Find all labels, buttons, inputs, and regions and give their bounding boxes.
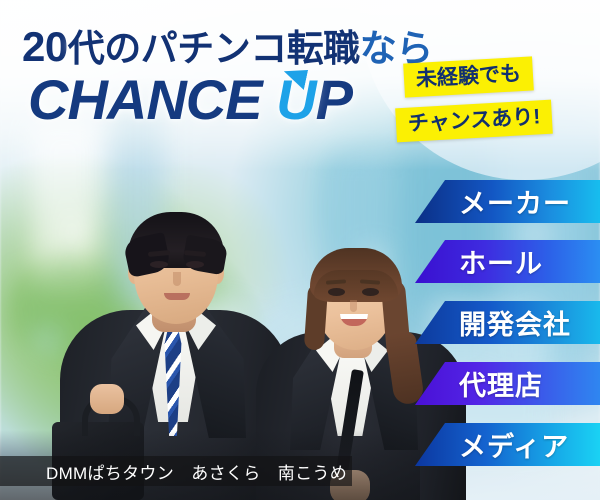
tag-hall[interactable]: ホール (415, 240, 600, 283)
credit-bar: DMMぱちタウン あさくら 南こうめ (0, 456, 352, 486)
logo-letter-p: P (316, 68, 352, 131)
tag-development-company[interactable]: 開発会社 (415, 301, 600, 344)
tag-media[interactable]: メディア (415, 423, 600, 466)
tag-maker-label: メーカー (459, 182, 571, 221)
tag-agency-label: 代理店 (459, 364, 543, 403)
headline-body: 代のパチンコ転職 (68, 28, 360, 69)
tag-development-company-label: 開発会社 (459, 303, 571, 342)
tag-maker[interactable]: メーカー (415, 180, 600, 223)
tag-media-label: メディア (459, 425, 569, 464)
badge-no-experience: 未経験でも (403, 56, 534, 97)
headline: 20代のパチンコ転職なら (22, 18, 433, 72)
logo-word-chance: CHANCE (28, 68, 262, 131)
tag-hall-label: ホール (459, 242, 543, 281)
headline-number: 20 (22, 23, 68, 70)
credit-text: DMMぱちタウン あさくら 南こうめ (46, 459, 347, 484)
chance-up-logo: CHANCE UP (28, 72, 352, 128)
tag-agency[interactable]: 代理店 (415, 362, 600, 405)
advertisement-banner[interactable]: 20代のパチンコ転職なら CHANCE UP 未経験でも チャンスあり! メーカ… (0, 0, 600, 500)
logo-letter-u: U (276, 72, 315, 128)
